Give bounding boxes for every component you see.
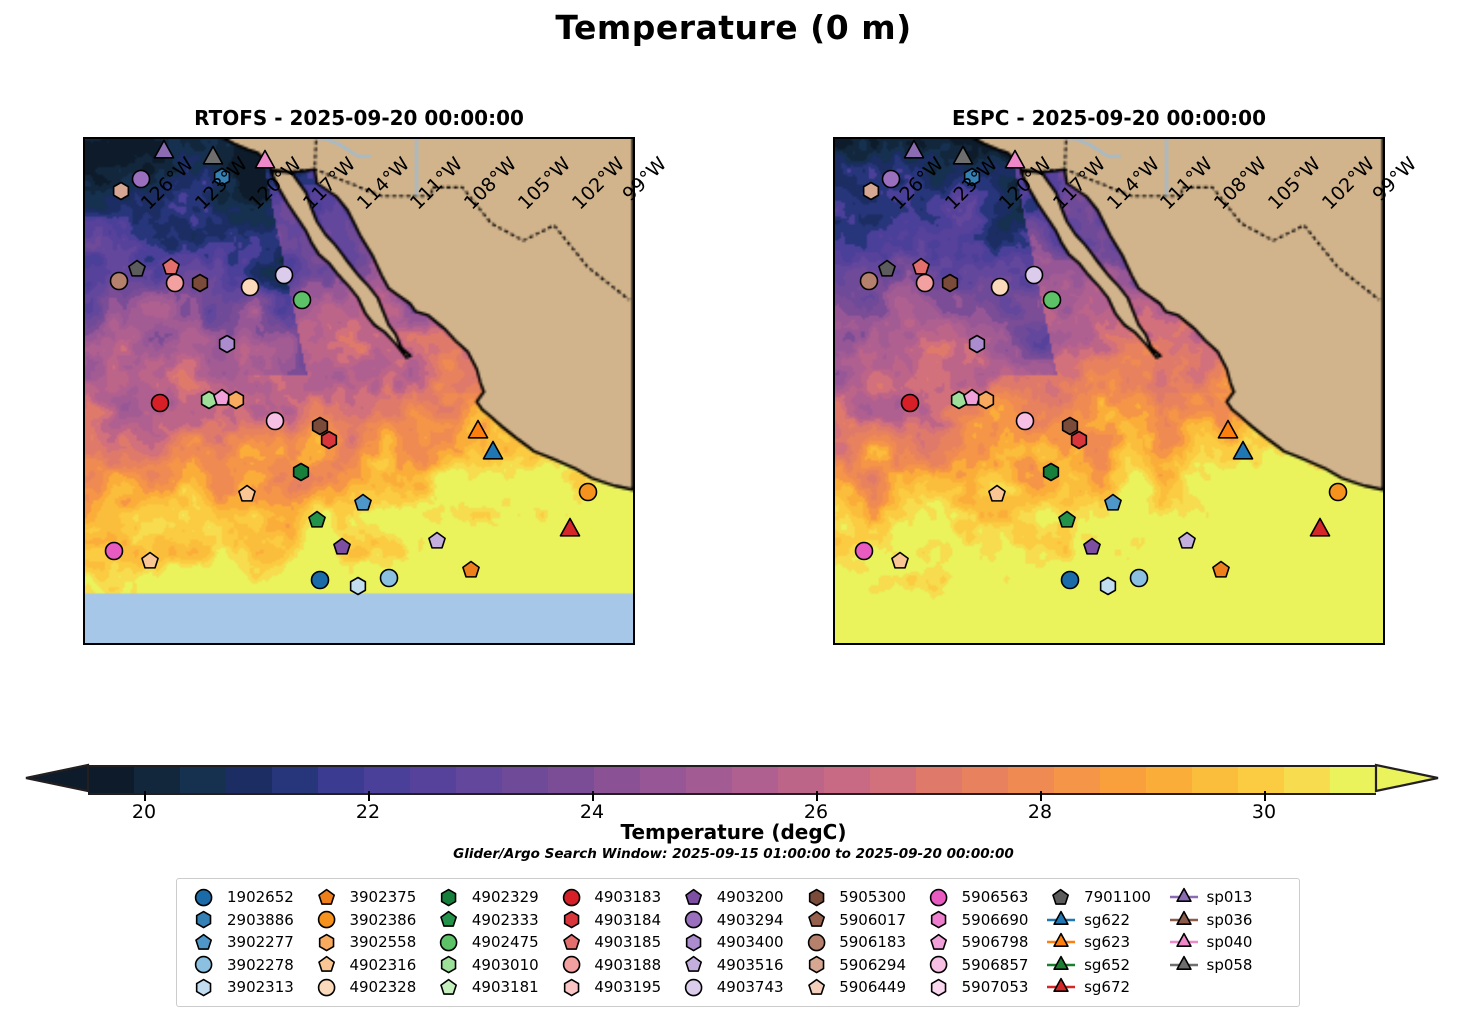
legend-marker-icon	[677, 953, 711, 976]
platform-marker[interactable]	[109, 179, 133, 203]
legend-marker-icon	[799, 953, 833, 976]
legend-column: 7901100sg622sg623sg652sg672	[1044, 886, 1166, 999]
panel-title-espc: ESPC - 2025-09-20 00:00:00	[833, 106, 1385, 130]
lon-minor-tick	[880, 643, 882, 645]
legend-marker-icon	[554, 908, 588, 931]
map-panel-rtofs: RTOFS - 2025-09-20 00:00:00 33°N30°N27°N…	[83, 137, 635, 645]
lat-minor-tick	[1383, 413, 1385, 415]
platform-marker[interactable]	[102, 539, 126, 563]
lat-tick	[1383, 394, 1385, 396]
legend-item[interactable]: 4903181	[432, 976, 554, 999]
legend-marker-icon	[432, 908, 466, 931]
legend-label: 5906563	[956, 888, 1029, 906]
legend-marker-icon	[187, 976, 221, 999]
lat-minor-tick	[1383, 605, 1385, 607]
legend-marker-icon	[187, 908, 221, 931]
lon-tick	[381, 643, 383, 645]
colorbar-band	[364, 767, 410, 793]
legend-label: sp013	[1201, 888, 1253, 906]
legend-marker-icon	[187, 886, 221, 909]
lon-tick	[543, 643, 545, 645]
platform-marker[interactable]	[1209, 558, 1233, 582]
colorbar-band	[778, 767, 824, 793]
legend-item[interactable]: 4903184	[554, 909, 676, 932]
platform-marker[interactable]	[1055, 508, 1079, 532]
legend-label: 4903184	[588, 911, 661, 929]
lon-tick	[597, 643, 599, 645]
legend-column: 39023753902386390255849023164902328	[309, 886, 431, 999]
colorbar-band	[1284, 767, 1330, 793]
lat-tick	[1383, 221, 1385, 223]
legend-item[interactable]: 5906690	[922, 909, 1044, 932]
platform-marker[interactable]	[377, 566, 401, 590]
platform-legend: 1902652290388639022773902278390231339023…	[176, 878, 1300, 1007]
platform-marker[interactable]	[351, 491, 375, 515]
platform-marker[interactable]	[305, 508, 329, 532]
legend-item[interactable]: 4902475	[432, 931, 554, 954]
colorbar: 202224262830	[0, 757, 1467, 797]
lon-minor-tick	[1042, 643, 1044, 645]
lon-minor-tick	[1167, 643, 1169, 645]
lat-minor-tick	[83, 432, 85, 434]
legend-item[interactable]: 5906798	[922, 931, 1044, 954]
legend-item[interactable]: 5905300	[799, 886, 921, 909]
platform-marker[interactable]	[1058, 568, 1082, 592]
platform-marker[interactable]	[1127, 566, 1151, 590]
platform-marker[interactable]	[859, 179, 883, 203]
lon-tick	[435, 643, 437, 645]
legend-item[interactable]: 5906294	[799, 954, 921, 977]
legend-marker-icon	[677, 976, 711, 999]
legend-item[interactable]: 4903188	[554, 954, 676, 977]
colorbar-band	[318, 767, 364, 793]
legend-item[interactable]: sg622	[1044, 909, 1166, 932]
legend-item[interactable]: 4903743	[677, 976, 799, 999]
legend-marker-icon	[677, 931, 711, 954]
legend-item[interactable]: 5907053	[922, 976, 1044, 999]
legend-label: 4902475	[466, 933, 539, 951]
legend-label: 5906017	[833, 911, 906, 929]
legend-label: 4903188	[588, 956, 661, 974]
lat-minor-tick	[1383, 260, 1385, 262]
lon-minor-tick	[417, 643, 419, 645]
platform-marker[interactable]	[425, 529, 449, 553]
legend-marker-icon	[1044, 955, 1078, 975]
lat-minor-tick	[1383, 317, 1385, 319]
platform-marker[interactable]	[148, 391, 172, 415]
colorbar-band	[548, 767, 594, 793]
legend-item[interactable]: 3902558	[309, 931, 431, 954]
platform-marker[interactable]	[1067, 428, 1091, 452]
legend-item[interactable]: 4903185	[554, 931, 676, 954]
legend-label: 5906294	[833, 956, 906, 974]
colorbar-band	[962, 767, 1008, 793]
legend-column: 49023294902333490247549030104903181	[432, 886, 554, 999]
colorbar-band	[594, 767, 640, 793]
platform-marker[interactable]	[224, 388, 248, 412]
legend-label: 2903886	[221, 911, 294, 929]
lon-minor-tick	[256, 643, 258, 645]
platform-marker[interactable]	[888, 549, 912, 573]
legend-marker-icon	[922, 976, 956, 999]
legend-item[interactable]: 4903195	[554, 976, 676, 999]
lat-tick	[1383, 336, 1385, 338]
lon-minor-tick	[453, 643, 455, 645]
platform-marker[interactable]	[215, 332, 239, 356]
legend-marker-icon	[432, 953, 466, 976]
colorbar-tick	[144, 791, 146, 801]
legend-label: sg672	[1078, 978, 1130, 996]
colorbar-tick	[816, 791, 818, 801]
colorbar-band	[88, 767, 134, 793]
platform-marker[interactable]	[188, 271, 212, 295]
lon-minor-tick	[1006, 643, 1008, 645]
map-canvas-espc[interactable]: 33°N30°N27°N24°N21°N18°N15°N12°N9°N	[833, 137, 1385, 645]
platform-marker[interactable]	[576, 480, 600, 504]
colorbar-band	[226, 767, 272, 793]
lon-minor-tick	[988, 643, 990, 645]
legend-marker-icon	[799, 976, 833, 999]
lon-minor-tick	[363, 643, 365, 645]
lon-minor-tick	[1383, 643, 1385, 645]
lon-minor-tick	[1257, 643, 1259, 645]
legend-label: sg622	[1078, 911, 1130, 929]
colorbar-band	[640, 767, 686, 793]
colorbar-band	[1008, 767, 1054, 793]
legend-item[interactable]: sp040	[1167, 931, 1289, 954]
lon-tick	[1131, 643, 1133, 645]
platform-marker[interactable]	[985, 481, 1009, 505]
platform-marker[interactable]	[290, 288, 314, 312]
legend-item[interactable]: 3902313	[187, 976, 309, 999]
colorbar-band	[1100, 767, 1146, 793]
lat-tick	[83, 394, 85, 396]
lat-minor-tick	[1383, 432, 1385, 434]
colorbar-min-arrow	[26, 765, 88, 791]
legend-item[interactable]: 4902333	[432, 909, 554, 932]
legend-item[interactable]: 4903400	[677, 931, 799, 954]
lon-tick	[1347, 643, 1349, 645]
lon-minor-tick	[94, 643, 96, 645]
map-panel-espc: ESPC - 2025-09-20 00:00:00 33°N30°N27°N2…	[833, 137, 1385, 645]
platform-marker[interactable]	[1306, 515, 1335, 544]
legend-marker-icon	[1044, 886, 1078, 909]
legend-item[interactable]: sp013	[1167, 886, 1289, 909]
lat-minor-tick	[1383, 547, 1385, 549]
legend-item[interactable]: 4903200	[677, 886, 799, 909]
legend-item[interactable]: 2903886	[187, 909, 309, 932]
legend-label: 5905300	[833, 888, 906, 906]
lon-minor-tick	[238, 643, 240, 645]
platform-marker[interactable]	[974, 388, 998, 412]
legend-label: 4903400	[711, 933, 784, 951]
platform-marker[interactable]	[272, 263, 296, 287]
lon-tick	[274, 643, 276, 645]
lat-minor-tick	[83, 490, 85, 492]
platform-marker[interactable]	[346, 573, 370, 597]
colorbar-gradient	[88, 765, 1376, 795]
lat-minor-tick	[83, 375, 85, 377]
legend-label: 4902328	[343, 978, 416, 996]
legend-marker-icon	[1044, 910, 1078, 930]
lon-tick	[970, 643, 972, 645]
lat-minor-tick	[1383, 145, 1385, 147]
lat-tick	[83, 164, 85, 166]
legend-item[interactable]: 4903010	[432, 954, 554, 977]
legend-label: sp036	[1201, 911, 1253, 929]
lat-tick	[1383, 624, 1385, 626]
platform-marker[interactable]	[913, 271, 937, 295]
legend-label: 4903183	[588, 888, 661, 906]
colorbar-band	[502, 767, 548, 793]
legend-marker-icon	[309, 953, 343, 976]
colorbar-band	[916, 767, 962, 793]
platform-marker[interactable]	[1013, 409, 1037, 433]
lat-minor-tick	[1383, 298, 1385, 300]
legend-item[interactable]: 4902316	[309, 954, 431, 977]
legend-marker-icon	[677, 908, 711, 931]
platform-marker[interactable]	[238, 274, 262, 298]
legend-marker-icon	[922, 886, 956, 909]
colorbar-band	[686, 767, 732, 793]
legend-item[interactable]: 1902652	[187, 886, 309, 909]
lon-minor-tick	[184, 643, 186, 645]
legend-item[interactable]: 7901100	[1044, 886, 1166, 909]
lon-minor-tick	[148, 643, 150, 645]
colorbar-band	[1054, 767, 1100, 793]
legend-item[interactable]: 4902328	[309, 976, 431, 999]
legend-marker-icon	[1044, 932, 1078, 952]
lon-minor-tick	[934, 643, 936, 645]
platform-marker[interactable]	[1096, 573, 1120, 597]
colorbar-band	[134, 767, 180, 793]
legend-marker-icon	[922, 908, 956, 931]
lat-minor-tick	[1383, 586, 1385, 588]
platform-marker[interactable]	[289, 460, 313, 484]
legend-item[interactable]: sp058	[1167, 954, 1289, 977]
lat-tick	[1383, 566, 1385, 568]
platform-marker[interactable]	[459, 558, 483, 582]
platform-marker[interactable]	[317, 428, 341, 452]
colorbar-band	[824, 767, 870, 793]
legend-label: 3902386	[343, 911, 416, 929]
platform-marker[interactable]	[1039, 460, 1063, 484]
colorbar-band	[1192, 767, 1238, 793]
legend-marker-icon	[309, 976, 343, 999]
lat-tick	[1383, 164, 1385, 166]
platform-marker[interactable]	[1228, 439, 1257, 468]
legend-label: 5906690	[956, 911, 1029, 929]
lat-tick	[83, 624, 85, 626]
platform-marker[interactable]	[308, 568, 332, 592]
platform-marker[interactable]	[988, 274, 1012, 298]
platform-marker[interactable]	[852, 539, 876, 563]
lat-minor-tick	[1383, 241, 1385, 243]
lat-minor-tick	[1383, 375, 1385, 377]
legend-label: 5906449	[833, 978, 906, 996]
lon-tick	[862, 643, 864, 645]
legend-marker-icon	[309, 886, 343, 909]
legend-column: 49032004903294490340049035164903743	[677, 886, 799, 999]
colorbar-band	[870, 767, 916, 793]
legend-item[interactable]: 3902277	[187, 931, 309, 954]
colorbar-band	[272, 767, 318, 793]
lon-tick	[1078, 643, 1080, 645]
colorbar-band	[1238, 767, 1284, 793]
lon-minor-tick	[633, 643, 635, 645]
legend-item[interactable]: 3902375	[309, 886, 431, 909]
legend-label: 4903181	[466, 978, 539, 996]
platform-marker[interactable]	[938, 271, 962, 295]
platform-marker[interactable]	[556, 515, 585, 544]
legend-column: 49031834903184490318549031884903195	[554, 886, 676, 999]
lon-minor-tick	[1311, 643, 1313, 645]
legend-label: 5907053	[956, 978, 1029, 996]
legend-label: sg623	[1078, 933, 1130, 951]
legend-item[interactable]: 5906857	[922, 954, 1044, 977]
lat-tick	[83, 336, 85, 338]
lon-tick	[1293, 643, 1295, 645]
legend-item[interactable]: 4903516	[677, 954, 799, 977]
lat-minor-tick	[1383, 356, 1385, 358]
legend-item[interactable]: sg623	[1044, 931, 1166, 954]
colorbar-tick	[368, 791, 370, 801]
legend-label: 4902316	[343, 956, 416, 974]
legend-column: 59065635906690590679859068575907053	[922, 886, 1044, 999]
legend-marker-icon	[1044, 977, 1078, 997]
legend-marker-icon	[1167, 887, 1201, 907]
platform-marker[interactable]	[1175, 529, 1199, 553]
platform-marker[interactable]	[330, 535, 354, 559]
platform-marker[interactable]	[1326, 480, 1350, 504]
platform-marker[interactable]	[1101, 491, 1125, 515]
legend-label: sg652	[1078, 956, 1130, 974]
legend-marker-icon	[554, 953, 588, 976]
lon-minor-tick	[561, 643, 563, 645]
legend-item[interactable]: 5906017	[799, 909, 921, 932]
platform-marker[interactable]	[107, 269, 131, 293]
legend-item[interactable]: 5906449	[799, 976, 921, 999]
lat-minor-tick	[83, 356, 85, 358]
legend-marker-icon	[799, 931, 833, 954]
lon-minor-tick	[1096, 643, 1098, 645]
legend-marker-icon	[554, 976, 588, 999]
lat-tick	[83, 221, 85, 223]
lat-tick	[83, 509, 85, 511]
colorbar-max-arrow	[1376, 765, 1438, 791]
lat-tick	[1383, 451, 1385, 453]
legend-item[interactable]: 3902386	[309, 909, 431, 932]
lat-minor-tick	[83, 547, 85, 549]
legend-label: 4903743	[711, 978, 784, 996]
lat-minor-tick	[1383, 471, 1385, 473]
lon-minor-tick	[292, 643, 294, 645]
lat-minor-tick	[83, 202, 85, 204]
legend-item[interactable]: 4903294	[677, 909, 799, 932]
legend-item[interactable]: 4903183	[554, 886, 676, 909]
legend-label: 7901100	[1078, 888, 1151, 906]
lon-tick	[916, 643, 918, 645]
platform-marker[interactable]	[263, 409, 287, 433]
platform-marker[interactable]	[163, 271, 187, 295]
legend-label: 4903185	[588, 933, 661, 951]
legend-label: 5906183	[833, 933, 906, 951]
legend-label: 4903010	[466, 956, 539, 974]
legend-marker-icon	[309, 908, 343, 931]
platform-marker[interactable]	[235, 481, 259, 505]
legend-label: 3902277	[221, 933, 294, 951]
legend-label: 5906857	[956, 956, 1029, 974]
platform-marker[interactable]	[1080, 535, 1104, 559]
platform-marker[interactable]	[898, 391, 922, 415]
platform-marker[interactable]	[857, 269, 881, 293]
platform-marker[interactable]	[1040, 288, 1064, 312]
legend-label: 4903294	[711, 911, 784, 929]
platform-marker[interactable]	[965, 332, 989, 356]
lat-tick	[83, 279, 85, 281]
colorbar-band	[1330, 767, 1376, 793]
map-canvas-rtofs[interactable]: 33°N30°N27°N24°N21°N18°N15°N12°N9°N	[83, 137, 635, 645]
lon-minor-tick	[130, 643, 132, 645]
lon-tick	[489, 643, 491, 645]
lat-minor-tick	[83, 317, 85, 319]
lat-minor-tick	[83, 643, 85, 645]
legend-label: 4903516	[711, 956, 784, 974]
legend-item[interactable]: sp036	[1167, 909, 1289, 932]
legend-column: 19026522903886390227739022783902313	[187, 886, 309, 999]
colorbar-title: Temperature (degC)	[0, 820, 1467, 844]
legend-marker-icon	[922, 931, 956, 954]
platform-marker[interactable]	[478, 439, 507, 468]
page-title: Temperature (0 m)	[0, 8, 1467, 47]
lon-tick	[328, 643, 330, 645]
lon-minor-tick	[1275, 643, 1277, 645]
platform-marker[interactable]	[138, 549, 162, 573]
legend-item[interactable]: 5906183	[799, 931, 921, 954]
legend-item[interactable]: sg652	[1044, 954, 1166, 977]
legend-item[interactable]: 4902329	[432, 886, 554, 909]
lon-minor-tick	[202, 643, 204, 645]
colorbar-band	[180, 767, 226, 793]
colorbar-band	[456, 767, 502, 793]
platform-marker[interactable]	[1022, 263, 1046, 287]
legend-marker-icon	[799, 908, 833, 931]
lat-tick	[1383, 509, 1385, 511]
lon-minor-tick	[1329, 643, 1331, 645]
legend-label: sp040	[1201, 933, 1253, 951]
lat-minor-tick	[83, 605, 85, 607]
panel-title-rtofs: RTOFS - 2025-09-20 00:00:00	[83, 106, 635, 130]
lat-minor-tick	[83, 145, 85, 147]
lon-tick	[220, 643, 222, 645]
lon-minor-tick	[1203, 643, 1205, 645]
lat-minor-tick	[83, 413, 85, 415]
legend-item[interactable]: sg672	[1044, 976, 1166, 999]
lat-tick	[83, 566, 85, 568]
lat-minor-tick	[1383, 528, 1385, 530]
legend-column: sp013sp036sp040sp058	[1167, 886, 1289, 999]
legend-label: 3902375	[343, 888, 416, 906]
legend-item[interactable]: 5906563	[922, 886, 1044, 909]
lon-minor-tick	[1060, 643, 1062, 645]
lon-minor-tick	[1221, 643, 1223, 645]
legend-marker-icon	[799, 886, 833, 909]
lat-minor-tick	[83, 183, 85, 185]
lon-tick	[166, 643, 168, 645]
lat-minor-tick	[83, 471, 85, 473]
lon-minor-tick	[844, 643, 846, 645]
legend-item[interactable]: 3902278	[187, 954, 309, 977]
